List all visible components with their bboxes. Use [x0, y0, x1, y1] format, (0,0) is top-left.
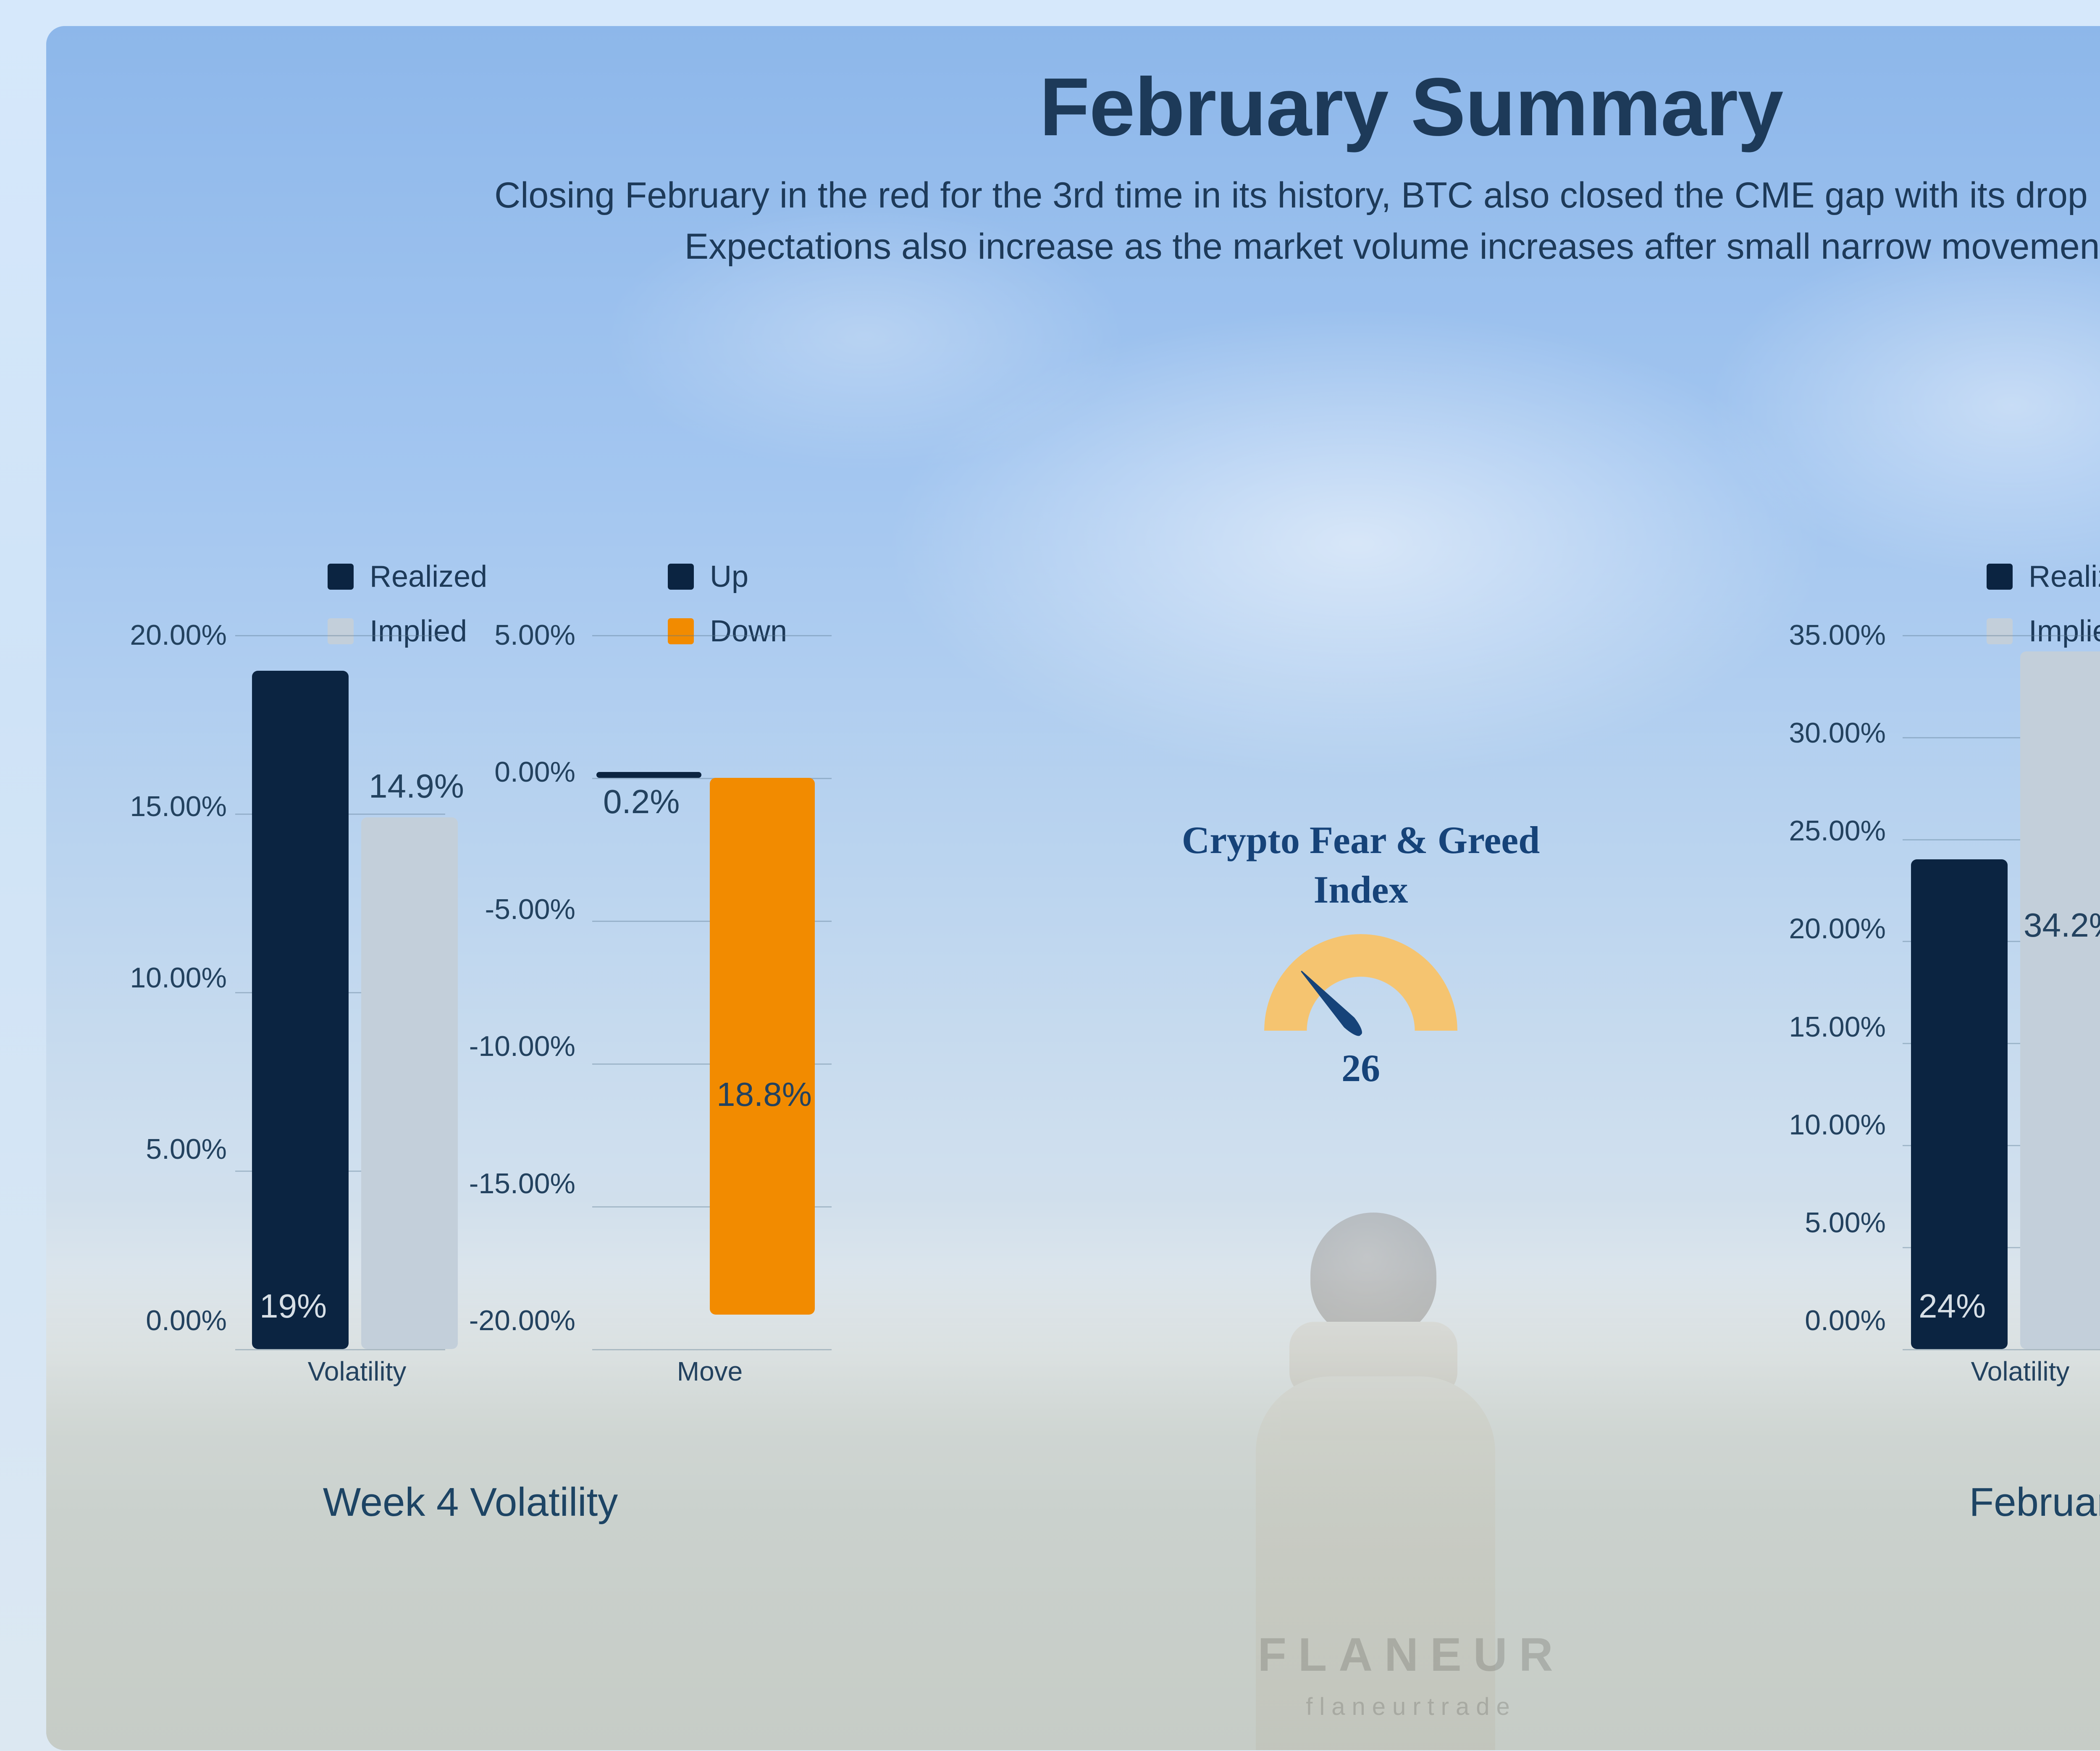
gauge-dial [1264, 934, 1457, 1035]
bar-realized[interactable] [1911, 859, 2008, 1349]
y-tick: -5.00% [485, 895, 575, 924]
panel-title-february: February Volatility [1768, 1479, 2100, 1525]
bar-up[interactable] [596, 772, 701, 778]
x-label-volatility: Volatility [235, 1356, 479, 1387]
gauge-title-line1: Crypto Fear & Greed [1113, 816, 1609, 865]
legend-swatch-realized-icon [328, 564, 354, 590]
y-axis-week4-volatility: 20.00% 15.00% 10.00% 5.00% 0.00% [109, 635, 227, 1349]
figure-head [1310, 1213, 1436, 1339]
y-tick: 0.00% [146, 1306, 227, 1335]
infographic-root: February Summary Closing February in the… [0, 0, 2100, 1751]
summary-card: February Summary Closing February in the… [46, 26, 2100, 1750]
y-tick: 25.00% [1789, 816, 1886, 845]
x-label-move: Move [592, 1356, 827, 1387]
y-tick: 10.00% [1789, 1110, 1886, 1139]
legend-item-up[interactable]: Up [668, 559, 787, 594]
plot-area-week4-move: 0.2% 18.8% [592, 635, 832, 1349]
bar-down[interactable] [710, 778, 815, 1315]
y-axis-february-volatility: 35.00% 30.00% 25.00% 20.00% 15.00% 10.00… [1768, 635, 1886, 1349]
page-title: February Summary [46, 64, 2100, 150]
bar-value-implied: 34.2% [2024, 908, 2100, 942]
y-tick: 0.00% [494, 758, 575, 786]
watermark-brand: FLANEUR [46, 1628, 2100, 1682]
y-tick: 35.00% [1789, 621, 1886, 649]
y-tick: 20.00% [130, 621, 227, 649]
legend-item-realized[interactable]: Realized [1987, 559, 2100, 594]
bar-value-realized: 19% [260, 1289, 327, 1323]
gauge-title-line2: Index [1113, 865, 1609, 915]
crypto-fear-greed-gauge: Crypto Fear & Greed Index 26 [1113, 816, 1609, 1090]
watermark-handle: flaneurtrade [46, 1693, 2100, 1721]
legend-label-realized: Realized [370, 559, 487, 594]
x-label-volatility: Volatility [1903, 1356, 2100, 1387]
y-tick: 20.00% [1789, 914, 1886, 943]
bar-value-realized: 24% [1919, 1289, 1986, 1323]
y-tick: -15.00% [469, 1169, 575, 1198]
bar-value-implied: 14.9% [369, 769, 464, 803]
y-tick: 30.00% [1789, 719, 1886, 747]
chart-february-volatility: 35.00% 30.00% 25.00% 20.00% 15.00% 10.00… [1768, 635, 2100, 1433]
bar-value-up: 0.2% [603, 785, 680, 819]
y-tick: -10.00% [469, 1032, 575, 1061]
chart-week4-volatility: 20.00% 15.00% 10.00% 5.00% 0.00% [109, 635, 445, 1433]
bar-value-down: 18.8% [717, 1078, 812, 1111]
y-tick: 15.00% [130, 792, 227, 821]
bar-implied[interactable] [361, 817, 458, 1349]
bar-implied[interactable] [2020, 651, 2100, 1349]
y-tick: 5.00% [146, 1135, 227, 1163]
brand-watermark: FLANEUR flaneurtrade [46, 1628, 2100, 1721]
bar-realized[interactable] [252, 671, 349, 1349]
legend-item-realized[interactable]: Realized [328, 559, 487, 594]
chart-week4-move: 5.00% 0.00% -5.00% -10.00% -15.00% -20.0… [458, 635, 832, 1433]
y-tick: 5.00% [494, 621, 575, 649]
header: February Summary Closing February in the… [46, 64, 2100, 272]
y-tick: 5.00% [1805, 1208, 1886, 1237]
legend-label-realized: Realized [2029, 559, 2100, 594]
plot-area-week4-volatility: 19% 14.9% [235, 635, 445, 1349]
y-tick: 10.00% [130, 963, 227, 992]
y-tick: -20.00% [469, 1306, 575, 1335]
panel-title-week-4: Week 4 Volatility [109, 1479, 832, 1525]
legend-label-up: Up [710, 559, 748, 594]
legend-swatch-realized-icon [1987, 564, 2013, 590]
plot-area-february-volatility: 24% 34.2% [1903, 635, 2100, 1349]
y-tick: 0.00% [1805, 1306, 1886, 1335]
y-tick: 15.00% [1789, 1013, 1886, 1041]
y-axis-week4-move: 5.00% 0.00% -5.00% -10.00% -15.00% -20.0… [458, 635, 575, 1349]
legend-swatch-up-icon [668, 564, 694, 590]
page-subtitle: Closing February in the red for the 3rd … [445, 170, 2100, 272]
